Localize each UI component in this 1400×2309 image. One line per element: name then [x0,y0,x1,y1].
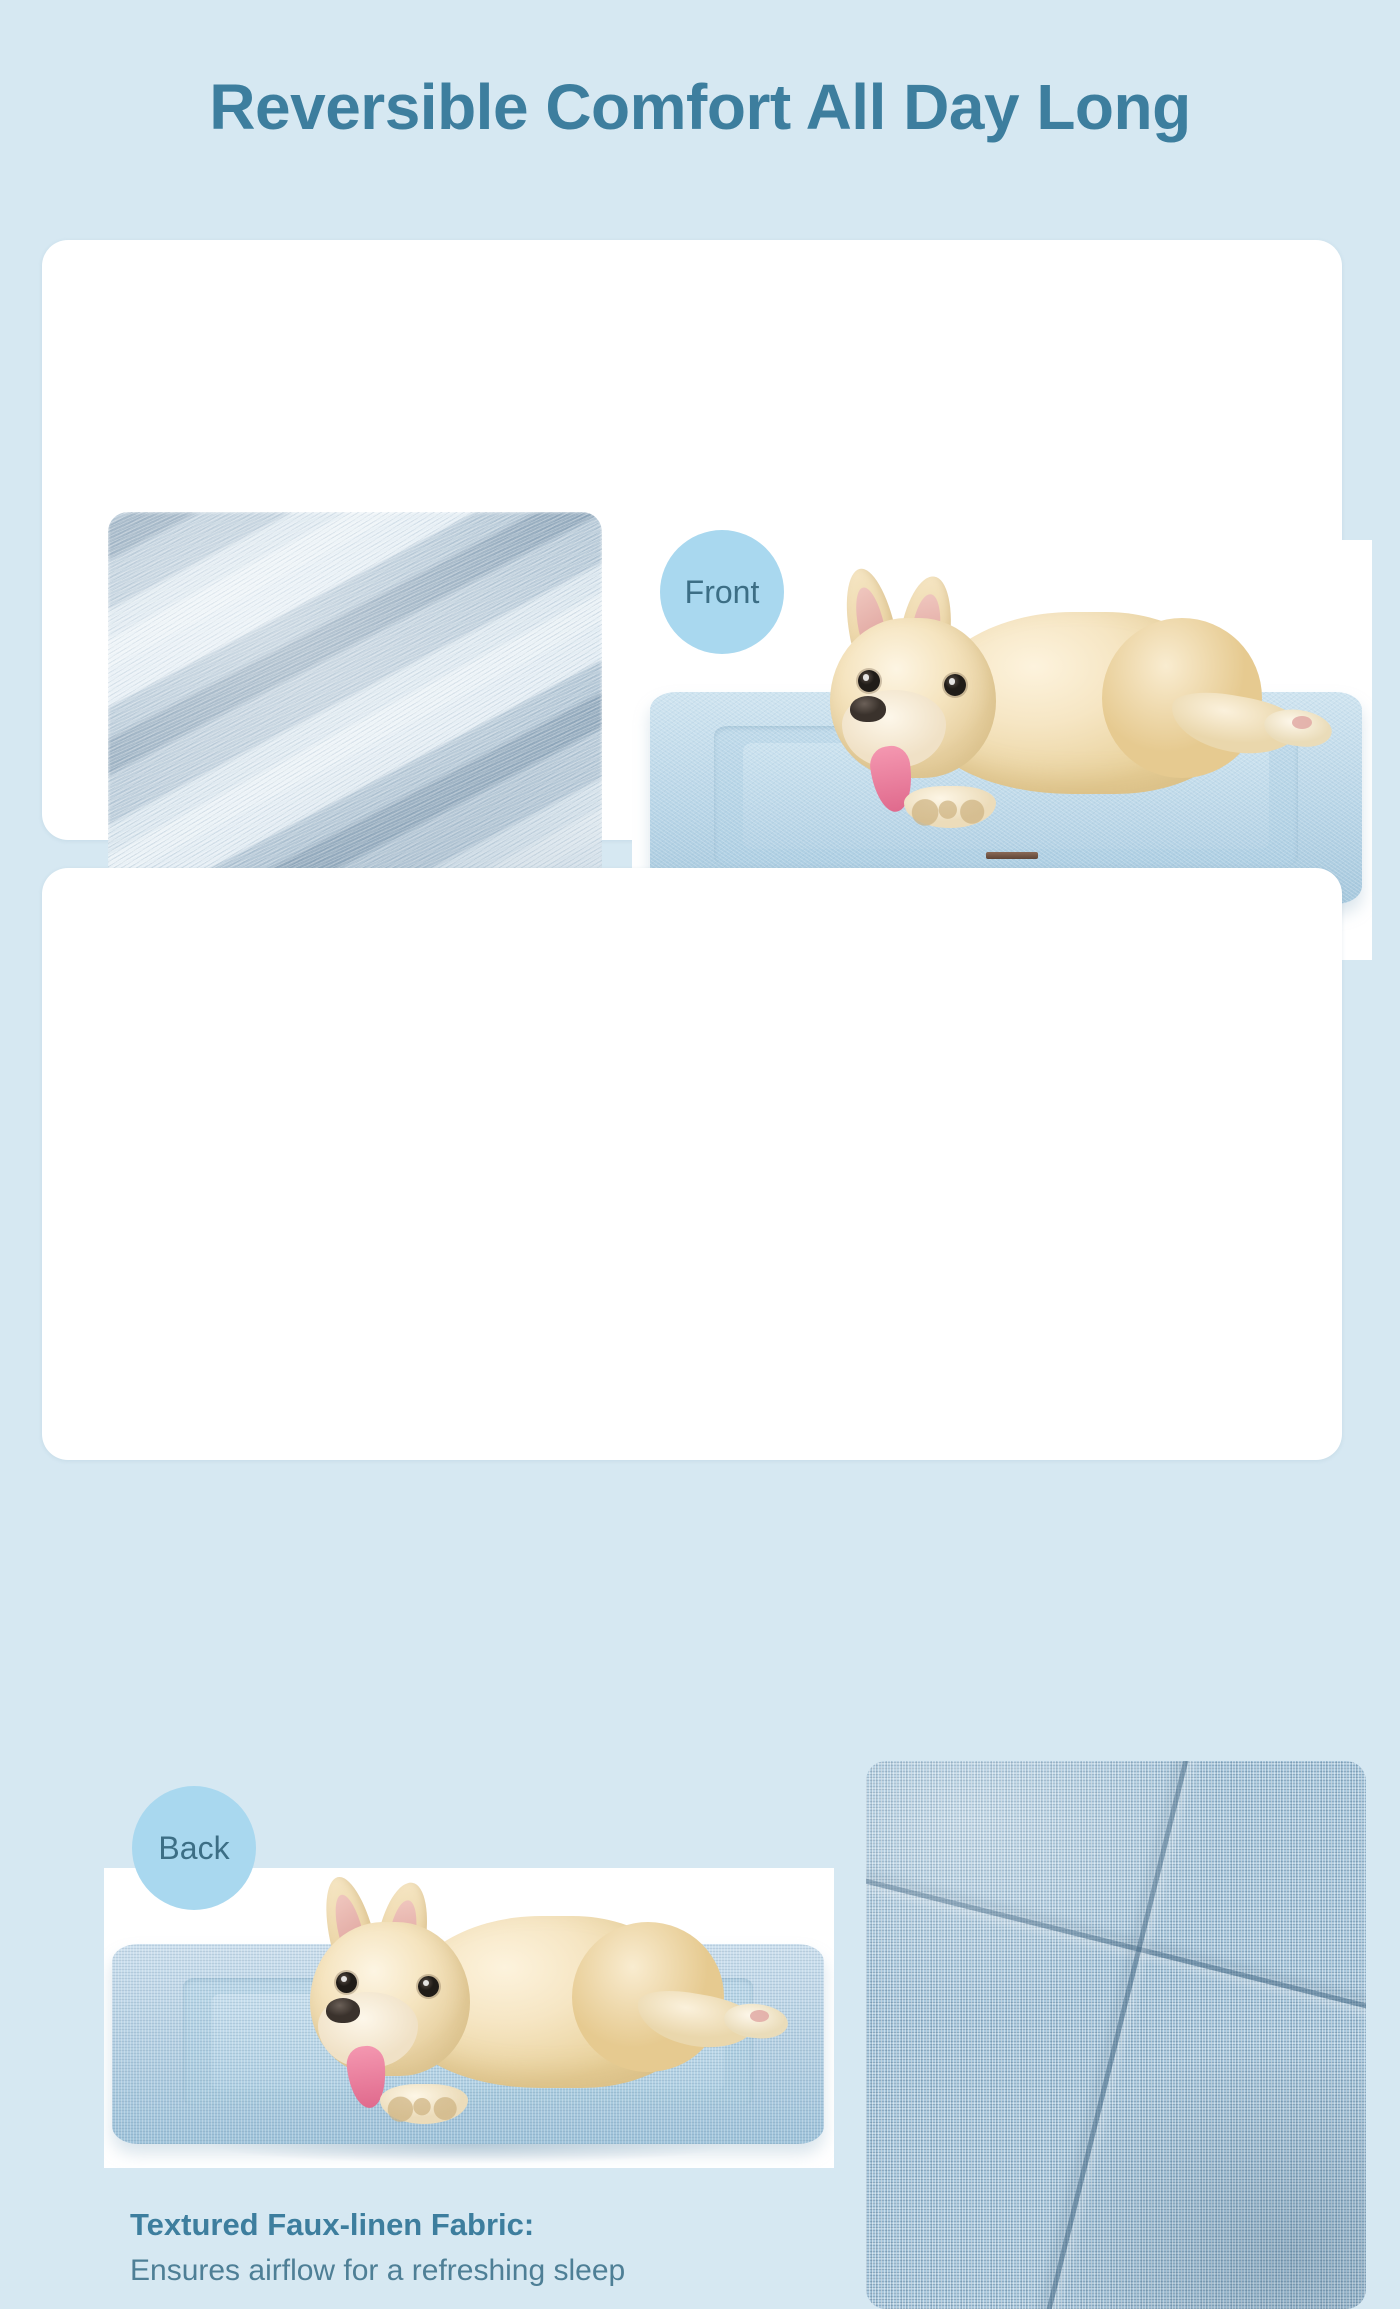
caption-back-subtitle: Ensures airflow for a refreshing sleep [130,2252,625,2290]
french-bulldog-back [254,1876,754,2146]
dog-nose [850,696,886,722]
linen-shading-overlay [866,1761,1366,2309]
dog-front-paw-toes [910,792,994,826]
dog-front-paw-toes [386,2090,466,2122]
french-bulldog-front [772,568,1292,858]
faux-linen-texture-image [866,1761,1366,2309]
caption-back-title: Textured Faux-linen Fabric: [130,2206,625,2245]
badge-front: Front [660,530,784,654]
back-product-photo [104,1868,834,2168]
dog-eye-left [336,1972,357,1993]
dog-eye-right [944,674,966,696]
dog-paw-pad [1292,716,1312,729]
badge-back: Back [132,1786,256,1910]
dog-eye-left [858,670,880,692]
dog-paw-pad [750,2010,769,2022]
dog-nose [326,1998,360,2023]
badge-back-label: Back [158,1830,229,1867]
page-title: Reversible Comfort All Day Long [0,74,1400,141]
caption-back: Textured Faux-linen Fabric: Ensures airf… [130,2206,625,2289]
feature-card-back: Back Textured Faux-linen Fabric: Ensures… [42,868,1342,1460]
feature-card-front: Front Cozy Faux Fur: Keeps your puppy wa… [42,240,1342,840]
dog-eye-right [418,1976,439,1997]
badge-front-label: Front [685,574,760,611]
